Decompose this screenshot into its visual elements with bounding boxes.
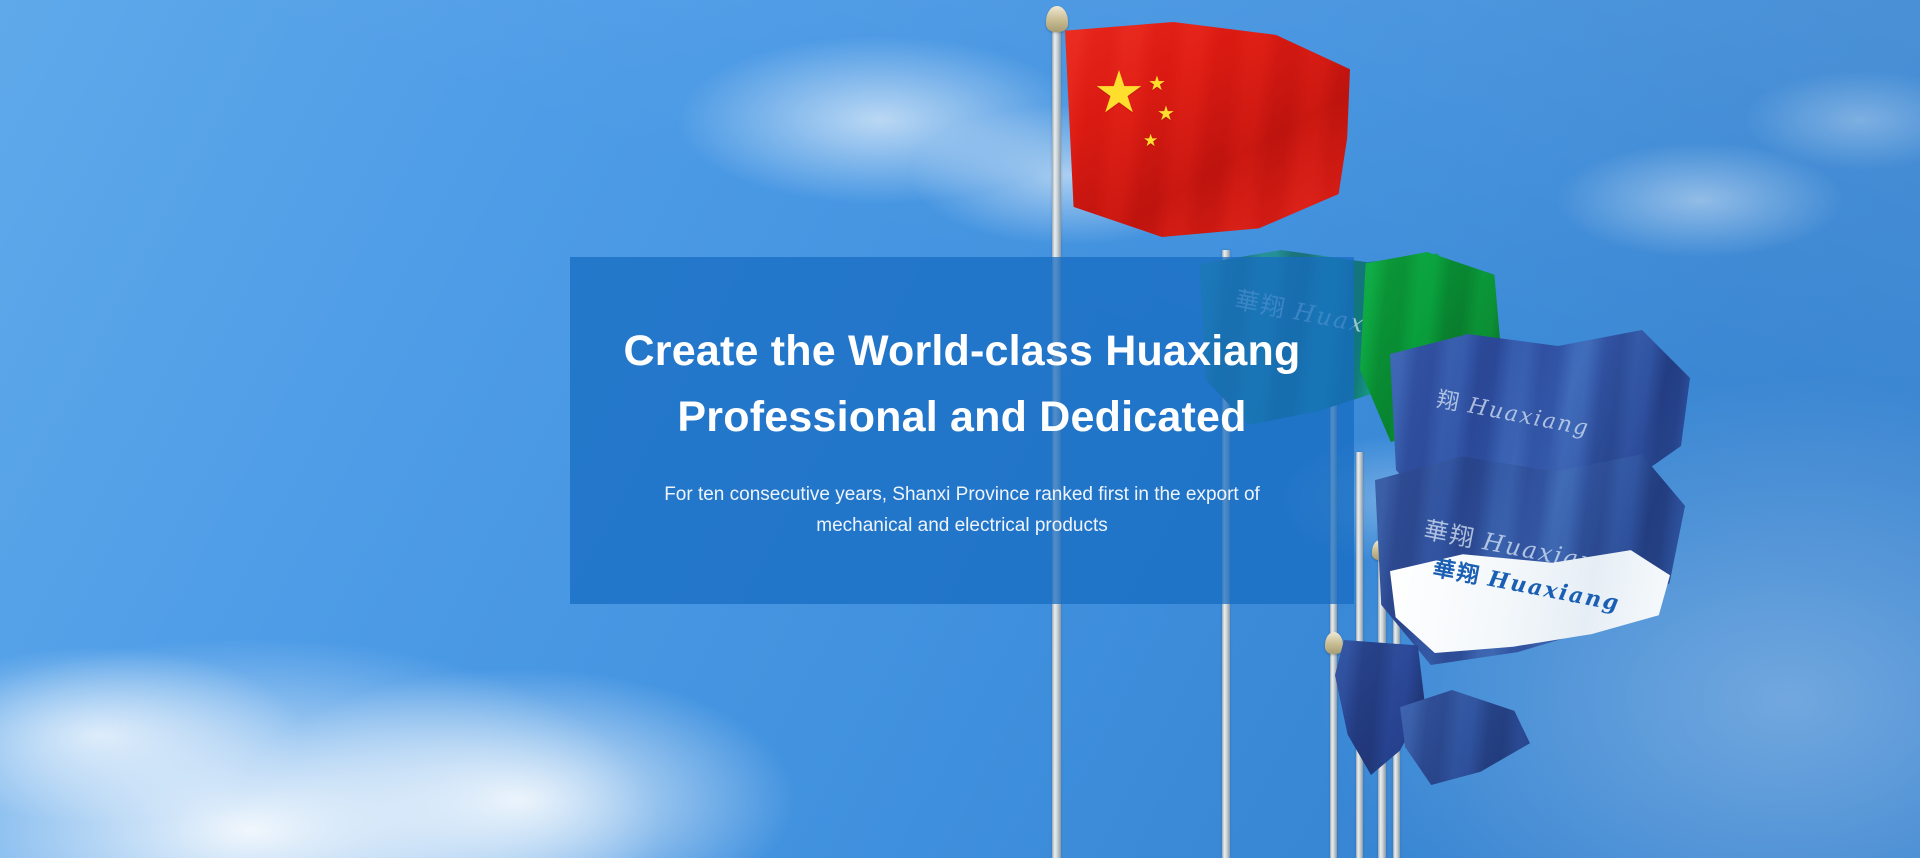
hero-title-line-2: Professional and Dedicated <box>677 385 1246 450</box>
flag-star-small-1: ★ <box>1148 74 1166 94</box>
flag-star-small-2: ★ <box>1157 104 1175 124</box>
flagpole-finial-1 <box>1046 6 1068 32</box>
flag-china-national: ★ ★ ★ ★ ★ <box>1065 22 1350 237</box>
flag-star-large: ★ <box>1093 64 1145 122</box>
flag-fold-shading <box>1065 22 1350 237</box>
flag-white-cn-text: 華翔 <box>1431 556 1483 590</box>
hero-text-overlay-panel: Create the World-class Huaxiang Professi… <box>570 257 1354 604</box>
flag-star-small-3: ★ <box>1143 132 1158 149</box>
hero-title-line-1: Create the World-class Huaxiang <box>624 319 1301 384</box>
hero-description: For ten consecutive years, Shanxi Provin… <box>662 480 1262 542</box>
hero-banner: 華翔Huaxiang ★ ★ ★ ★ ★ 翔Huaxiang 華翔Huaxian… <box>0 0 1920 858</box>
flagpole-finial-3 <box>1325 632 1343 654</box>
flag-white-latin-text: Huaxiang <box>1486 566 1623 617</box>
